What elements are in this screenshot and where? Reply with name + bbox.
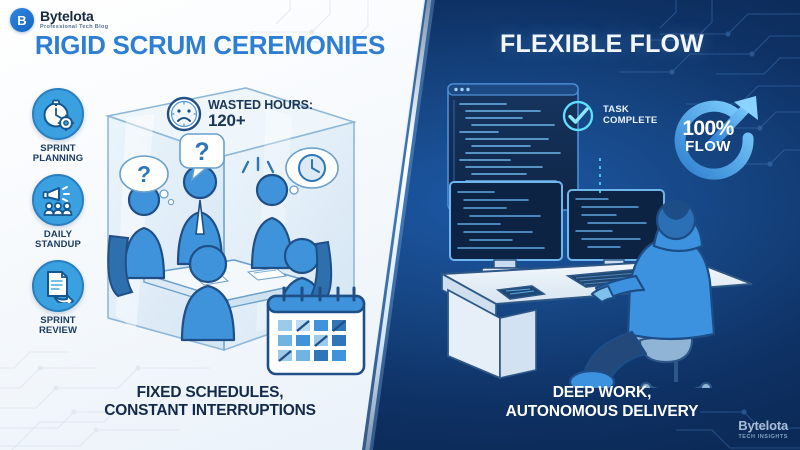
flow-label: FLOW [660, 139, 756, 154]
label-line-2: STANDUP [35, 239, 81, 250]
svg-text:?: ? [137, 161, 151, 187]
brand-logo[interactable]: B Bytelota Professional Tech Blog [10, 8, 108, 32]
task-complete-line-2: COMPLETE [603, 115, 657, 126]
right-panel-caption: DEEP WORK, AUTONOMOUS DELIVERY [432, 384, 772, 421]
logo-mark-icon: B [10, 8, 34, 32]
stopwatch-gear-icon [41, 97, 75, 131]
sidebar-item-sprint-planning[interactable]: SPRINT PLANNING [14, 88, 102, 164]
left-panel-caption: FIXED SCHEDULES, CONSTANT INTERRUPTIONS [0, 384, 420, 421]
ceremony-list: SPRINT PLANNING [14, 88, 102, 336]
megaphone-people-icon [41, 183, 75, 217]
flow-percent: 100% [660, 118, 756, 139]
sad-clock-icon [166, 96, 202, 132]
brand-tagline: Professional Tech Blog [40, 25, 108, 31]
wasted-hours-metric: WASTED HOURS: 120+ [166, 96, 313, 132]
sprint-review-badge [32, 260, 84, 312]
clock-icon [299, 155, 325, 181]
right-panel-title: FLEXIBLE FLOW [432, 30, 772, 59]
sprint-review-label: SPRINT REVIEW [39, 316, 77, 336]
flow-badge: 100% FLOW [660, 88, 770, 188]
footer-brand: Bytelota TECH INSIGHTS [738, 418, 788, 440]
brand-name: Bytelota [40, 9, 108, 23]
label-line-2: PLANNING [33, 153, 83, 164]
task-complete-badge: TASK COMPLETE [560, 98, 657, 134]
daily-standup-badge [32, 174, 84, 226]
left-panel-title: RIGID SCRUM CEREMONIES [0, 30, 420, 61]
daily-standup-label: DAILY STANDUP [35, 230, 81, 250]
document-arrow-icon [41, 269, 75, 303]
right-caption-line-2: AUTONOMOUS DELIVERY [506, 403, 699, 420]
wasted-hours-label: WASTED HOURS: [208, 99, 313, 112]
infographic-canvas: ? ? [0, 0, 800, 450]
flow-text-group: 100% FLOW [660, 118, 756, 154]
logo-text-group: Bytelota Professional Tech Blog [40, 9, 108, 31]
left-caption-line-1: FIXED SCHEDULES, [137, 384, 284, 401]
sidebar-item-daily-standup[interactable]: DAILY STANDUP [14, 174, 102, 250]
sprint-planning-badge [32, 88, 84, 140]
right-caption-line-1: DEEP WORK, [553, 384, 652, 401]
sidebar-item-sprint-review[interactable]: SPRINT REVIEW [14, 260, 102, 336]
blocked-calendar-icon [268, 288, 364, 374]
wasted-hours-value: 120+ [208, 112, 313, 130]
monitor-left [450, 182, 562, 274]
footer-brand-name: Bytelota [738, 418, 788, 433]
label-line-2: REVIEW [39, 325, 77, 336]
task-complete-line-1: TASK [603, 104, 629, 115]
check-circle-icon [560, 98, 596, 134]
svg-text:?: ? [194, 138, 209, 166]
left-panel: ? ? [0, 0, 430, 450]
sprint-planning-label: SPRINT PLANNING [33, 144, 83, 164]
left-caption-line-2: CONSTANT INTERRUPTIONS [104, 402, 315, 419]
footer-brand-tagline: TECH INSIGHTS [738, 434, 788, 440]
